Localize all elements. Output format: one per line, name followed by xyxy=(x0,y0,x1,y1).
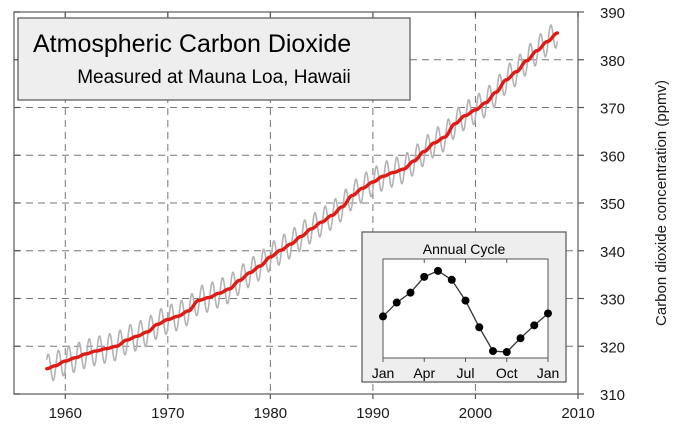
inset-plot-frame xyxy=(383,259,548,358)
inset-x-label-3: Oct xyxy=(496,365,518,381)
inset-point-Jun xyxy=(448,276,456,284)
inset-point-Nov xyxy=(517,334,525,342)
x-tick-label-1960: 1960 xyxy=(49,405,82,422)
inset-point-Mar xyxy=(407,289,415,297)
inset-x-label-1: Apr xyxy=(413,365,435,381)
inset-x-label-4: Jan xyxy=(537,365,560,381)
y-axis-labels: 310320330340350360370380390 xyxy=(600,5,625,404)
annual-cycle-inset: Annual Cycle JanAprJulOctJan xyxy=(362,232,566,382)
inset-point-Apr xyxy=(420,273,428,281)
figure-root: 196019701980199020002010 310320330340350… xyxy=(0,0,676,443)
inset-x-label-0: Jan xyxy=(372,365,395,381)
inset-point-May xyxy=(434,267,442,275)
co2-chart: 196019701980199020002010 310320330340350… xyxy=(0,0,676,443)
x-tick-label-1970: 1970 xyxy=(151,405,184,422)
y-tick-label-380: 380 xyxy=(600,53,625,70)
page-title: Atmospheric Carbon Dioxide xyxy=(33,30,351,58)
inset-point-Jul xyxy=(462,297,470,305)
y-tick-label-310: 310 xyxy=(600,387,625,404)
inset-point-Sep xyxy=(489,347,497,355)
y-tick-label-370: 370 xyxy=(600,101,625,118)
inset-title: Annual Cycle xyxy=(423,241,506,257)
y-tick-label-360: 360 xyxy=(600,148,625,165)
inset-point-Oct xyxy=(503,348,511,356)
y-tick-label-390: 390 xyxy=(600,5,625,22)
y-tick-label-320: 320 xyxy=(600,339,625,356)
inset-x-label-2: Jul xyxy=(457,365,475,381)
title-box: Atmospheric Carbon Dioxide Measured at M… xyxy=(18,18,410,100)
x-tick-label-1980: 1980 xyxy=(254,405,287,422)
inset-point-Jan xyxy=(544,309,552,317)
inset-point-Dec xyxy=(530,321,538,329)
inset-point-Aug xyxy=(475,323,483,331)
y-tick-label-340: 340 xyxy=(600,244,625,261)
y-tick-label-350: 350 xyxy=(600,196,625,213)
y-axis-title: Carbon dioxide concentration (ppmv) xyxy=(653,80,670,326)
x-tick-label-2010: 2010 xyxy=(561,405,594,422)
page-subtitle: Measured at Mauna Loa, Hawaii xyxy=(77,67,351,88)
x-tick-label-2000: 2000 xyxy=(459,405,492,422)
inset-point-Jan xyxy=(379,312,387,320)
y-tick-label-330: 330 xyxy=(600,292,625,309)
inset-point-Feb xyxy=(393,299,401,307)
x-tick-label-1990: 1990 xyxy=(356,405,389,422)
